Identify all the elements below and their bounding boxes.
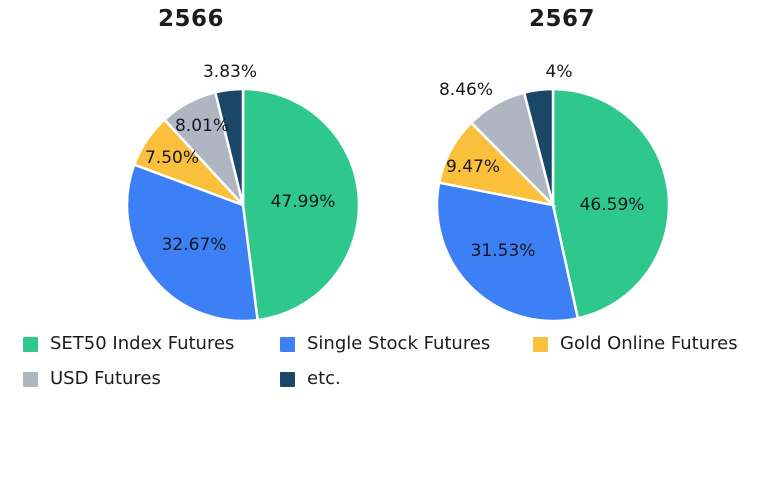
legend-swatch-icon-etc xyxy=(280,372,295,387)
legend-label-usd: USD Futures xyxy=(50,370,161,388)
legend-row-bottom: USD Futures etc. xyxy=(0,363,768,395)
pie-chart-svg-2567 xyxy=(384,0,768,325)
legend-swatch-icon-gold-online xyxy=(533,337,548,352)
legend-label-gold-online: Gold Online Futures xyxy=(560,335,738,353)
legend-item-spacer xyxy=(533,363,768,395)
pie-charts-container: 2566 2567 47.99%32.67%7.50%8.01%3.83%46.… xyxy=(0,0,768,325)
legend-row-top: SET50 Index Futures Single Stock Futures… xyxy=(0,328,768,360)
pie-slice-label: 8.46% xyxy=(439,80,493,100)
pie-slice-label: 4% xyxy=(546,62,573,82)
legend-swatch-icon-set50 xyxy=(23,337,38,352)
pie-slice-label: 47.99% xyxy=(271,192,336,212)
pie-slice-label: 31.53% xyxy=(471,241,536,261)
pie-slice-label: 46.59% xyxy=(580,195,645,215)
pie-slice-label: 3.83% xyxy=(203,62,257,82)
legend-item-gold-online-futures[interactable]: Gold Online Futures xyxy=(533,328,768,360)
pie-slice-label: 32.67% xyxy=(162,235,227,255)
legend-item-single-stock-futures[interactable]: Single Stock Futures xyxy=(280,328,533,360)
legend-swatch-icon-single-stock xyxy=(280,337,295,352)
legend-item-usd-futures[interactable]: USD Futures xyxy=(0,363,280,395)
pie-slice-label: 7.50% xyxy=(145,148,199,168)
legend-item-set50-index-futures[interactable]: SET50 Index Futures xyxy=(0,328,280,360)
chart-legend: SET50 Index Futures Single Stock Futures… xyxy=(0,325,768,415)
pie-chart-panel-2567: 2567 xyxy=(384,0,768,325)
legend-label-single-stock: Single Stock Futures xyxy=(307,335,490,353)
pie-slice-label: 8.01% xyxy=(175,116,229,136)
legend-swatch-icon-usd xyxy=(23,372,38,387)
legend-item-etc[interactable]: etc. xyxy=(280,363,533,395)
legend-label-set50: SET50 Index Futures xyxy=(50,335,234,353)
pie-slice-label: 9.47% xyxy=(446,157,500,177)
legend-label-etc: etc. xyxy=(307,370,341,388)
